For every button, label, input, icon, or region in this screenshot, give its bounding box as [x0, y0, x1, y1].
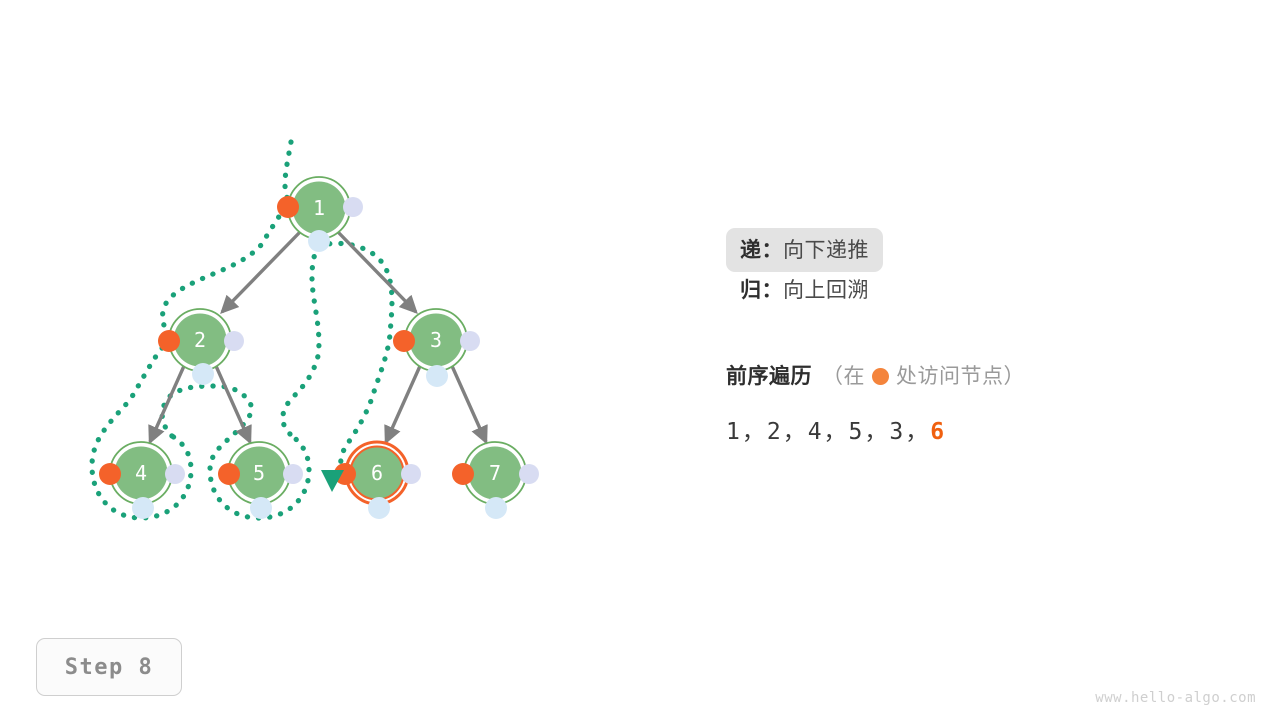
node-6-right-dot [401, 464, 421, 484]
node-2-bottom-dot [192, 363, 214, 385]
preorder-title: 前序遍历 （在 处访问节点） [726, 360, 1226, 390]
phase-chip-backtrack: 归： 向上回溯 [726, 268, 883, 312]
phase-row-descend: 递： 向下递推 [726, 228, 1226, 268]
node-1-visit-dot [277, 196, 299, 218]
node-2-label: 2 [194, 328, 206, 352]
node-4-label: 4 [135, 461, 147, 485]
node-3-visit-dot [393, 330, 415, 352]
edge-3-6 [386, 366, 420, 442]
phase-backtrack-value: 向上回溯 [783, 274, 869, 304]
node-4-right-dot [165, 464, 185, 484]
tree-node-3[interactable]: 3 [393, 309, 480, 387]
preorder-sequence-prefix: 1，2，4，5，3， [726, 419, 930, 445]
phase-backtrack-key: 归： [740, 274, 783, 304]
trace-seg-root-to-2 [163, 142, 291, 340]
edge-3-7 [452, 366, 486, 442]
tree-node-6[interactable]: 6 [334, 442, 421, 519]
node-5-label: 5 [253, 461, 265, 485]
preorder-sequence: 1，2，4，5，3，6 [726, 412, 1226, 446]
binary-tree-diagram: 1 2 3 4 5 [0, 0, 660, 600]
preorder-note-before: （在 [822, 360, 865, 390]
node-3-bottom-dot [426, 365, 448, 387]
step-badge: Step 8 [36, 638, 182, 696]
phase-chip-descend: 递： 向下递推 [726, 228, 883, 272]
edge-2-4 [150, 366, 184, 442]
visit-marker-dot-icon [872, 368, 889, 385]
node-3-right-dot [460, 331, 480, 351]
preorder-block: 前序遍历 （在 处访问节点） 1，2，4，5，3，6 [726, 360, 1226, 446]
tree-node-2[interactable]: 2 [158, 309, 244, 385]
node-6-label: 6 [371, 461, 383, 485]
preorder-title-text: 前序遍历 [726, 360, 812, 390]
node-1-label: 1 [313, 196, 325, 220]
trace-seg-5-to-6 [283, 243, 392, 470]
node-5-bottom-dot [250, 497, 272, 519]
node-1-bottom-dot [308, 230, 330, 252]
preorder-sequence-current: 6 [930, 419, 946, 445]
phase-descend-value: 向下递推 [783, 234, 869, 264]
node-7-label: 7 [489, 461, 501, 485]
node-4-bottom-dot [132, 497, 154, 519]
node-4-visit-dot [99, 463, 121, 485]
preorder-title-note: （在 处访问节点） [822, 360, 1025, 390]
phase-descend-key: 递： [740, 234, 783, 264]
watermark: www.hello-algo.com [1095, 690, 1256, 706]
node-2-visit-dot [158, 330, 180, 352]
tree-node-4[interactable]: 4 [99, 442, 185, 519]
node-5-visit-dot [218, 463, 240, 485]
preorder-note-after: 处访问节点） [896, 360, 1025, 390]
node-1-right-dot [343, 197, 363, 217]
node-3-label: 3 [430, 328, 442, 352]
edge-2-5 [216, 366, 250, 442]
node-7-bottom-dot [485, 497, 507, 519]
legend-panel: 递： 向下递推 归： 向上回溯 前序遍历 （在 处访问节点） 1，2，4，5，3… [726, 228, 1226, 446]
edge-1-3 [338, 232, 416, 312]
tree-node-7[interactable]: 7 [452, 442, 539, 519]
node-6-bottom-dot [368, 497, 390, 519]
node-2-right-dot [224, 331, 244, 351]
node-7-right-dot [519, 464, 539, 484]
phase-row-backtrack: 归： 向上回溯 [726, 268, 1226, 308]
node-7-visit-dot [452, 463, 474, 485]
node-5-right-dot [283, 464, 303, 484]
